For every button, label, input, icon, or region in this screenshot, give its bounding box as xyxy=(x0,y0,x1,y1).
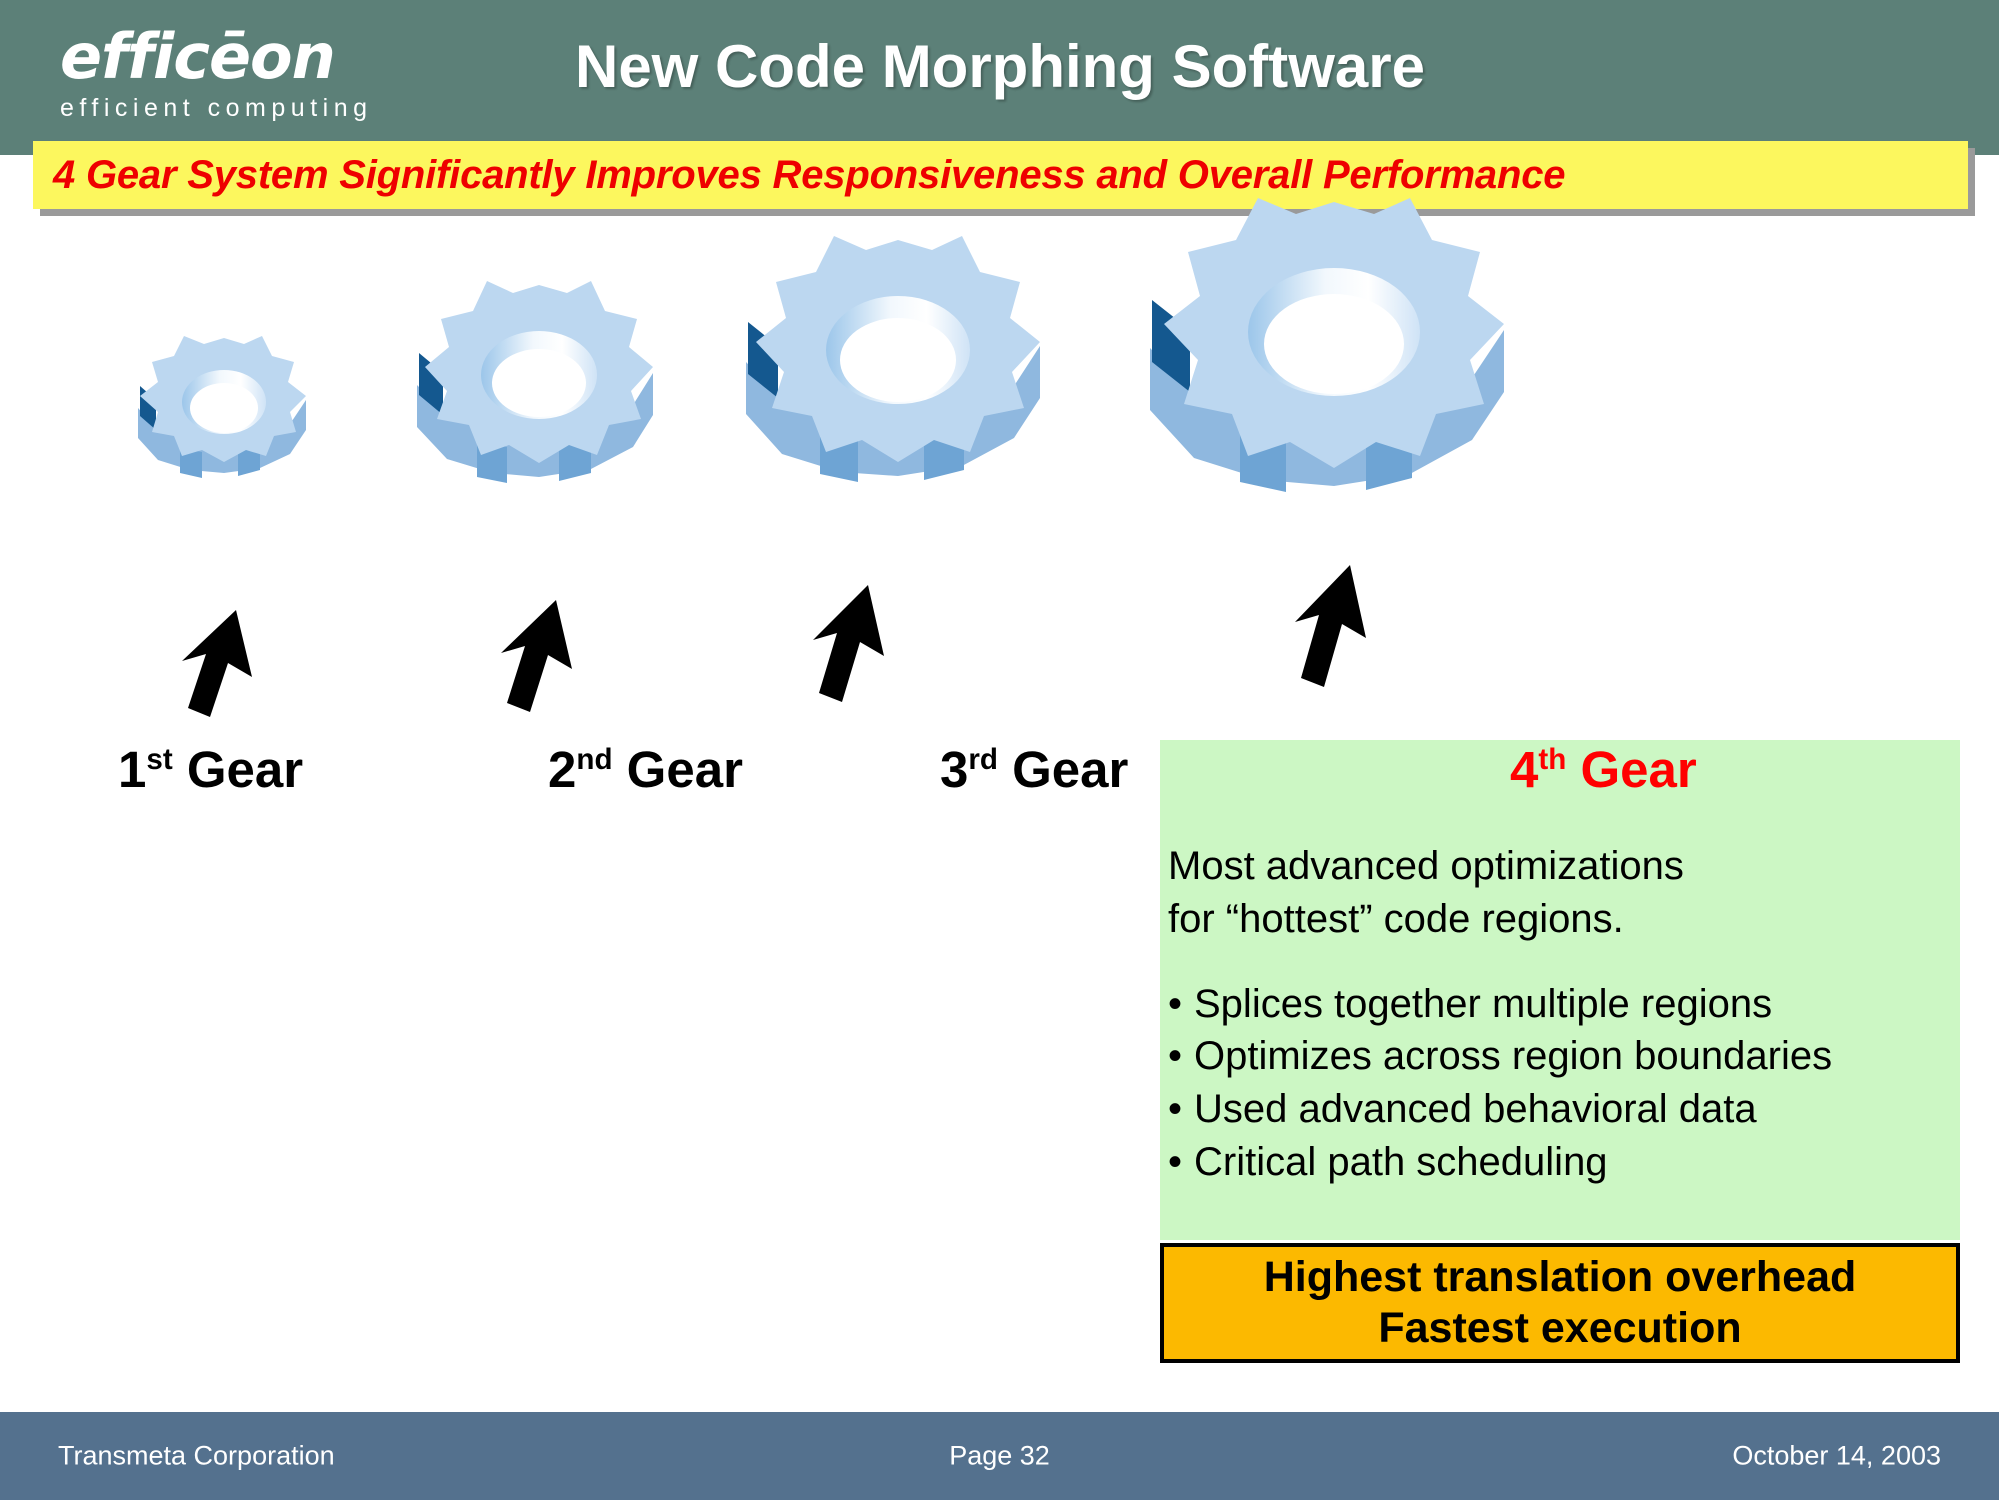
slide-footer: Transmeta Corporation Page 32 October 14… xyxy=(0,1412,1999,1500)
list-item: •Optimizes across region boundaries xyxy=(1168,1030,1958,1083)
highlight-line-2: Fastest execution xyxy=(1378,1303,1741,1354)
gear-label-2-suffix: Gear xyxy=(613,741,743,798)
gear-label-4-suffix: Gear xyxy=(1566,741,1696,798)
bullet-icon: • xyxy=(1168,1030,1194,1083)
list-item-text: Splices together multiple regions xyxy=(1194,982,1772,1026)
page-title: New Code Morphing Software xyxy=(400,32,1600,101)
bullet-icon: • xyxy=(1168,1136,1194,1189)
gear-2-graphic xyxy=(395,275,680,525)
gear-label-3-ordinal: rd xyxy=(968,743,998,776)
gear-1-graphic xyxy=(120,330,330,510)
gear-label-1-number: 1 xyxy=(118,741,146,798)
footer-date: October 14, 2003 xyxy=(1732,1441,1941,1472)
arrow-to-gear-4 xyxy=(1272,560,1382,695)
highlight-box: Highest translation overhead Fastest exe… xyxy=(1160,1243,1960,1363)
gear-label-2: 2nd Gear xyxy=(548,740,743,799)
callout-bullet-list: •Splices together multiple regions •Opti… xyxy=(1168,978,1958,1189)
bullet-icon: • xyxy=(1168,1083,1194,1136)
list-item-text: Optimizes across region boundaries xyxy=(1194,1034,1832,1078)
gear-4-graphic xyxy=(1120,190,1540,550)
callout-paragraph-line-2: for “hottest” code regions. xyxy=(1168,893,1958,946)
callout-paragraph: Most advanced optimizations for “hottest… xyxy=(1168,840,1958,946)
gear-label-2-ordinal: nd xyxy=(576,743,612,776)
footer-page-number: Page 32 xyxy=(0,1441,1999,1472)
gear-label-4: 4th Gear xyxy=(1510,740,1697,799)
gear-label-3: 3rd Gear xyxy=(940,740,1128,799)
gear-label-1: 1st Gear xyxy=(118,740,303,799)
gear-label-2-number: 2 xyxy=(548,741,576,798)
logo-tagline: efficient computing xyxy=(60,94,390,123)
gear-label-4-ordinal: th xyxy=(1538,743,1566,776)
slide: efficēon efficient computing New Code Mo… xyxy=(0,0,1999,1500)
list-item: •Splices together multiple regions xyxy=(1168,978,1958,1031)
gear-label-4-number: 4 xyxy=(1510,741,1538,798)
list-item: •Critical path scheduling xyxy=(1168,1136,1958,1189)
gear-3-graphic xyxy=(720,230,1070,530)
list-item-text: Critical path scheduling xyxy=(1194,1140,1608,1184)
callout-paragraph-line-1: Most advanced optimizations xyxy=(1168,840,1958,893)
gear-label-1-ordinal: st xyxy=(146,743,172,776)
arrow-to-gear-1 xyxy=(160,605,270,725)
arrow-to-gear-2 xyxy=(478,595,588,720)
slide-header: efficēon efficient computing New Code Mo… xyxy=(0,0,1999,155)
gear-label-3-suffix: Gear xyxy=(998,741,1128,798)
logo-wordmark: efficēon xyxy=(60,26,390,88)
gear-label-3-number: 3 xyxy=(940,741,968,798)
efficeon-logo: efficēon efficient computing xyxy=(60,14,390,134)
bullet-icon: • xyxy=(1168,978,1194,1031)
list-item: •Used advanced behavioral data xyxy=(1168,1083,1958,1136)
highlight-line-1: Highest translation overhead xyxy=(1264,1252,1857,1303)
list-item-text: Used advanced behavioral data xyxy=(1194,1087,1757,1131)
callout-body: Most advanced optimizations for “hottest… xyxy=(1168,840,1958,1189)
arrow-to-gear-3 xyxy=(790,580,900,710)
gear-illustration xyxy=(0,180,1999,720)
gear-label-1-suffix: Gear xyxy=(173,741,303,798)
